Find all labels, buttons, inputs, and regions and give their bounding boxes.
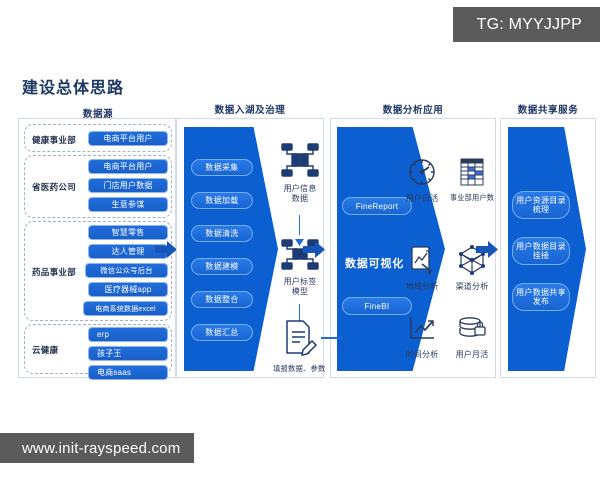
lake-pill[interactable]: 数据采集 — [191, 159, 253, 176]
source-item[interactable]: 智慧零售 — [88, 225, 168, 240]
column-header-sharing: 数据共享服务 — [500, 102, 596, 116]
source-item[interactable]: erp — [88, 327, 168, 342]
spreadsheet-icon — [456, 157, 488, 187]
lake-pill[interactable]: 数据建模 — [191, 258, 253, 275]
lake-pill[interactable]: 数据加载 — [191, 192, 253, 209]
analysis-caption: 渠道分析 — [443, 281, 501, 292]
analysis-caption: 用户月活 — [443, 349, 501, 360]
column-header-analysis: 数据分析应用 — [330, 102, 496, 116]
analysis-item-division-users: 事业部用户数 — [443, 157, 501, 203]
source-item[interactable]: 微信公众号后台 — [85, 263, 168, 278]
governance-item-form-report: 填报数据、参数 — [273, 319, 325, 373]
website-watermark-badge: www.init-rayspeed.com — [0, 433, 194, 463]
sharing-pill[interactable]: 用户数据共享发布 — [512, 283, 570, 311]
panel-data-analysis: FineReport 数据可视化 FineBI 用户日活 — [330, 118, 496, 378]
flow-arrow-3-icon — [476, 241, 498, 258]
database-lock-icon — [456, 315, 488, 343]
flow-arrow-2-icon — [303, 241, 325, 258]
source-item[interactable]: 医疗器械app — [88, 282, 168, 297]
source-group-label-health: 健康事业部 — [32, 134, 76, 146]
source-item[interactable]: 门店用户数据 — [88, 178, 168, 193]
region-chart-icon — [406, 245, 438, 275]
column-header-data-lake: 数据入湖及治理 — [178, 102, 322, 116]
panel-data-lake: 数据采集 数据加载 数据清洗 数据建模 数据整合 数据汇总 用户信息数据 — [176, 118, 324, 378]
source-group-label-cloud-health: 云健康 — [32, 344, 58, 356]
lake-pill[interactable]: 数据清洗 — [191, 225, 253, 242]
telegram-watermark-badge: TG: MYYJJPP — [453, 7, 600, 42]
page-title: 建设总体思路 — [22, 74, 124, 98]
sharing-pill[interactable]: 用户资源目录梳理 — [512, 191, 570, 219]
lake-pill[interactable]: 数据整合 — [191, 291, 253, 308]
analysis-pill-finebi[interactable]: FineBI — [342, 297, 412, 315]
governance-item-user-info: 用户信息数据 — [276, 143, 324, 204]
source-group-label-provincial: 省医药公司 — [32, 181, 76, 193]
panel-data-source: 健康事业部 电商平台用户 省医药公司 电商平台用户 门店用户数据 生意参谋 药品… — [18, 118, 176, 378]
gauge-icon — [406, 157, 438, 187]
governance-caption: 用户标签模型 — [283, 277, 317, 297]
analysis-caption: 事业部用户数 — [443, 193, 501, 203]
source-group-label-drug: 药品事业部 — [32, 266, 76, 278]
source-item[interactable]: 生意参谋 — [88, 197, 168, 212]
connector-line-from-governance — [321, 337, 343, 339]
sharing-pill[interactable]: 用户数据目录挂接 — [512, 237, 570, 265]
source-item[interactable]: 电商系统数据excel — [83, 301, 168, 316]
trend-chart-icon — [406, 315, 438, 343]
flow-arrow-1-icon — [155, 241, 177, 258]
analysis-item-monthly-active: 用户月活 — [443, 315, 501, 360]
user-info-data-icon — [280, 143, 320, 177]
source-item[interactable]: 电商saas — [88, 365, 168, 380]
source-item[interactable]: 孩子王 — [88, 346, 168, 361]
diagram-canvas: TG: MYYJJPP www.init-rayspeed.com 建设总体思路… — [0, 0, 600, 480]
panel-data-sharing: 用户资源目录梳理 用户数据目录挂接 用户数据共享发布 — [500, 118, 596, 378]
source-item[interactable]: 电商平台用户 — [88, 159, 168, 174]
form-report-icon — [281, 319, 317, 357]
source-item[interactable]: 电商平台用户 — [88, 131, 168, 146]
connector-line-vertical — [299, 215, 300, 235]
governance-caption: 用户信息数据 — [283, 184, 317, 204]
governance-caption: 填报数据、参数 — [273, 364, 325, 373]
lake-pill[interactable]: 数据汇总 — [191, 324, 253, 341]
